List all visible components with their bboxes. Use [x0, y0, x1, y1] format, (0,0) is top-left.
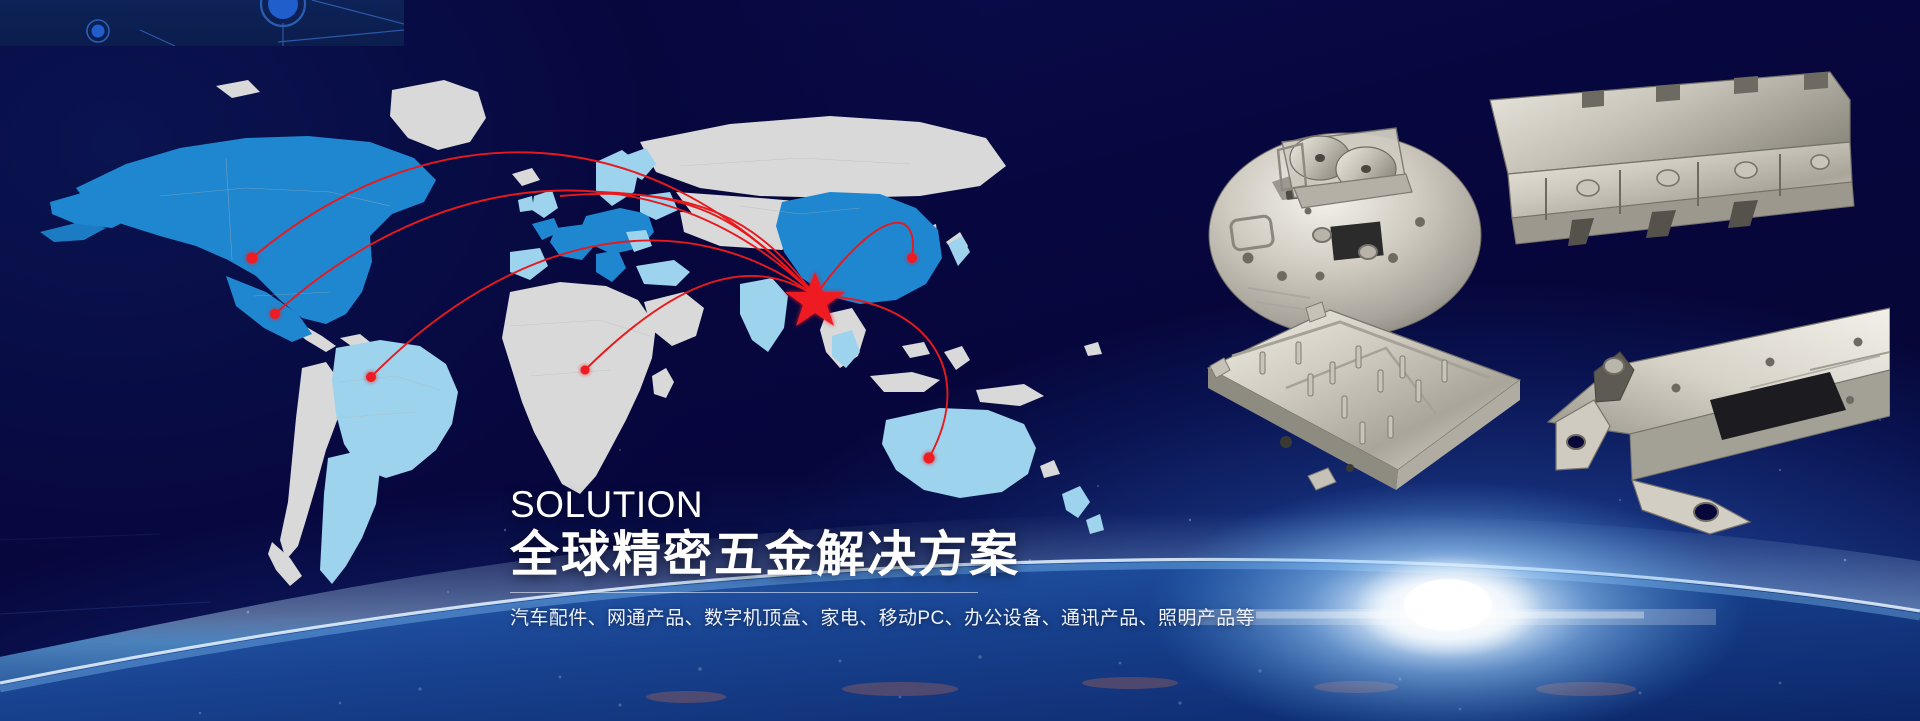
product-base-tray	[1208, 302, 1520, 490]
product-disc-plate	[1209, 128, 1481, 337]
africa-marker	[581, 366, 590, 375]
subtitle-text: 汽车配件、网通产品、数字机顶盒、家电、移动PC、办公设备、通讯产品、照明产品等	[510, 607, 1270, 632]
page-title: 全球精密五金解决方案	[510, 529, 1270, 582]
hero-copy-block: SOLUTION 全球精密五金解决方案 汽车配件、网通产品、数字机顶盒、家电、移…	[510, 486, 1270, 632]
hud-node-small	[87, 20, 109, 42]
hud-graphics	[0, 0, 404, 46]
hud-node-large	[261, 0, 305, 26]
japan-marker	[907, 253, 917, 263]
title-divider	[510, 592, 978, 593]
product-photo-group	[1190, 70, 1890, 570]
eyebrow-text: SOLUTION	[510, 486, 1270, 523]
north-america-marker	[247, 253, 258, 264]
product-chassis-frame	[1548, 308, 1890, 534]
product-long-bracket	[1490, 72, 1854, 246]
mexico-marker	[270, 309, 280, 319]
south-america-marker	[366, 372, 376, 382]
australia-marker	[924, 453, 935, 464]
hud-panel-strip	[0, 0, 404, 46]
solution-hero-banner: SOLUTION 全球精密五金解决方案 汽车配件、网通产品、数字机顶盒、家电、移…	[0, 0, 1920, 721]
